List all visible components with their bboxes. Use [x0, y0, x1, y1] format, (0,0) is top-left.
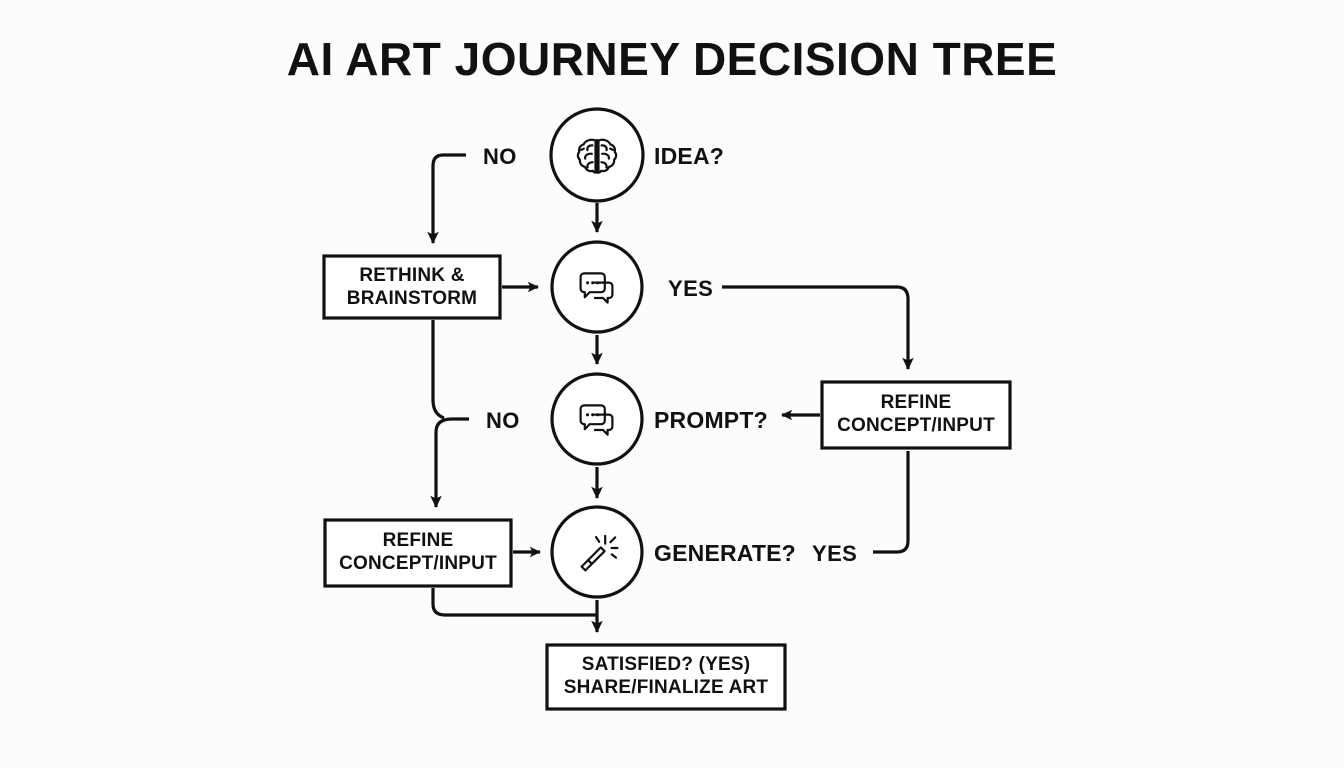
- node-idea[interactable]: [551, 109, 643, 201]
- page-title: AI ART JOURNEY DECISION TREE: [287, 33, 1058, 85]
- edge-label-prompt-entry-yes: YES: [668, 276, 713, 301]
- prompt-entry-node-circle[interactable]: [552, 242, 642, 332]
- edge-trunk-curve-join: [433, 400, 444, 418]
- node-refine-left[interactable]: REFINE CONCEPT/INPUT: [325, 520, 511, 586]
- edge-label-prompt-no: NO: [486, 408, 520, 433]
- prompt-node-label: PROMPT?: [654, 407, 768, 433]
- node-rethink-brainstorm[interactable]: RETHINK & BRAINSTORM: [324, 256, 500, 318]
- edge-prompt-entry-yes-to-refine-right: [722, 287, 908, 369]
- generate-node-label: GENERATE?: [654, 540, 796, 566]
- edge-generate-yes-to-refine-right: [873, 451, 908, 552]
- edge-label-generate-yes: YES: [812, 541, 857, 566]
- edge-idea-no-to-rethink: [433, 155, 466, 243]
- node-satisfied[interactable]: SATISFIED? (YES) SHARE/FINALIZE ART: [547, 645, 785, 709]
- satisfied-line2: SHARE/FINALIZE ART: [564, 677, 769, 698]
- refine-left-line2: CONCEPT/INPUT: [339, 553, 497, 574]
- edge-label-idea-no: NO: [483, 144, 517, 169]
- flowchart-svg: AI ART JOURNEY DECISION TREE: [0, 0, 1344, 768]
- idea-node-label: IDEA?: [654, 143, 724, 169]
- rethink-brainstorm-line2: BRAINSTORM: [347, 288, 477, 309]
- node-prompt[interactable]: [552, 374, 642, 464]
- refine-left-line1: REFINE: [383, 530, 454, 551]
- node-generate[interactable]: [552, 507, 642, 597]
- node-prompt-entry[interactable]: [552, 242, 642, 332]
- edge-refine-left-to-satisfied: [433, 588, 597, 615]
- node-refine-right[interactable]: REFINE CONCEPT/INPUT: [822, 382, 1010, 448]
- rethink-brainstorm-line1: RETHINK &: [359, 265, 464, 286]
- diagram-canvas: AI ART JOURNEY DECISION TREE: [0, 0, 1344, 768]
- edge-prompt-no-to-refine-left: [436, 419, 469, 507]
- refine-right-line2: CONCEPT/INPUT: [837, 415, 995, 436]
- refine-right-line1: REFINE: [881, 392, 952, 413]
- prompt-node-circle[interactable]: [552, 374, 642, 464]
- satisfied-line1: SATISFIED? (YES): [582, 654, 751, 675]
